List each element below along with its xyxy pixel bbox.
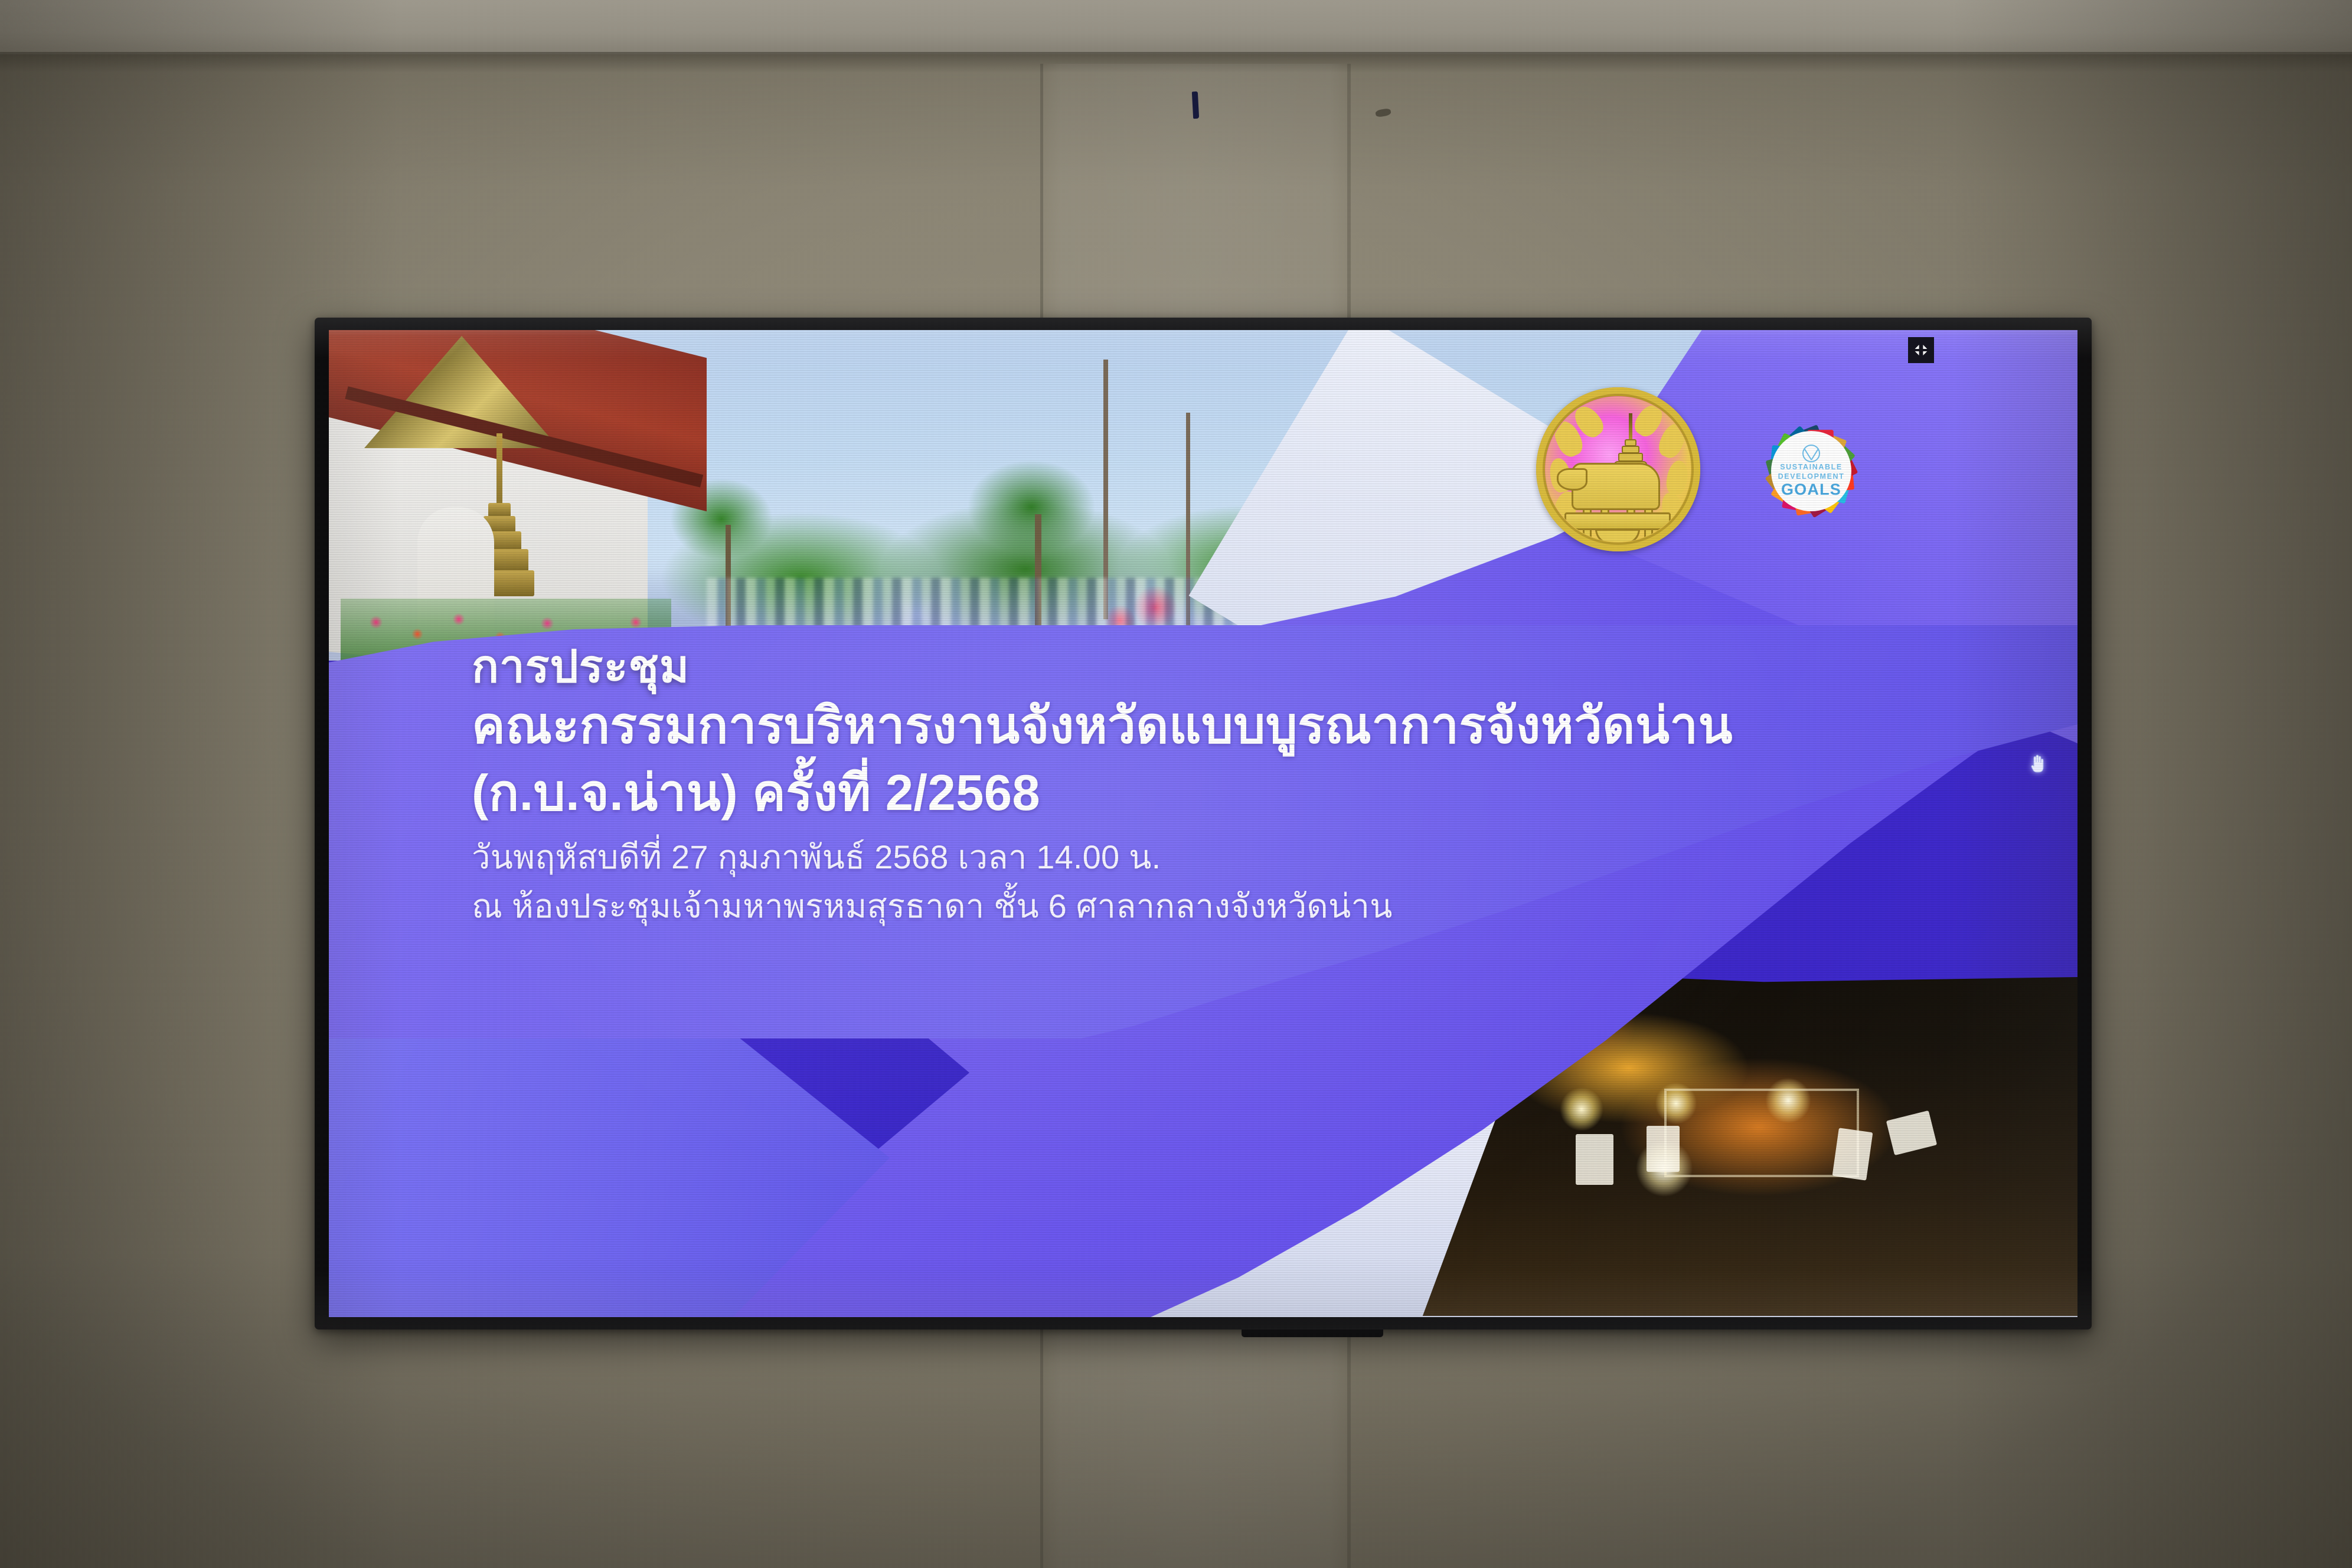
slide-kicker: การประชุม	[472, 631, 690, 702]
seal-bull-figure	[1572, 463, 1660, 510]
seal-bull-head	[1557, 468, 1587, 491]
hand-pointer-icon	[2029, 754, 2044, 773]
room-scene: SUSTAINABLE DEVELOPMENT GOALS การประชุม …	[0, 0, 2352, 1568]
seal-pedestal	[1564, 512, 1671, 530]
seal-stupa-tier-3	[1618, 453, 1643, 462]
sdg-line-2: DEVELOPMENT	[1778, 473, 1845, 481]
exit-fullscreen-button[interactable]	[1908, 337, 1934, 363]
temple-photo-element	[329, 330, 707, 661]
slide-headline: คณะกรรมการบริหารงานจังหวัดแบบบูรณาการจัง…	[472, 692, 1733, 827]
seal-lotus-ornament	[1595, 529, 1640, 542]
tv-screen[interactable]: SUSTAINABLE DEVELOPMENT GOALS การประชุม …	[329, 330, 2077, 1317]
seal-stupa-needle	[1629, 413, 1632, 442]
seal-flame-6	[1655, 420, 1690, 461]
chedi-tier-1	[488, 503, 511, 517]
chedi-spire	[496, 433, 502, 510]
seal-flame-7	[1664, 459, 1690, 496]
ceiling-strip	[0, 0, 2352, 54]
seal-inner-field	[1546, 397, 1691, 542]
night-market-card-4	[1886, 1110, 1937, 1155]
night-market-card-1	[1576, 1134, 1613, 1185]
night-market-card-2	[1647, 1126, 1680, 1172]
television[interactable]: SUSTAINABLE DEVELOPMENT GOALS การประชุม …	[315, 318, 2092, 1329]
slide-subline: วันพฤหัสบดีที่ 27 กุมภาพันธ์ 2568 เวลา 1…	[472, 833, 1393, 931]
sdg-line-1: SUSTAINABLE	[1780, 463, 1843, 471]
night-market-card-3	[1832, 1128, 1873, 1180]
exit-fullscreen-icon	[1913, 342, 1929, 358]
sdg-wheel-logo: SUSTAINABLE DEVELOPMENT GOALS	[1737, 397, 1885, 545]
night-market-signframe	[1664, 1089, 1859, 1177]
hand-cursor	[2029, 754, 2044, 776]
nan-province-seal	[1536, 387, 1700, 551]
un-emblem-icon	[1802, 445, 1820, 462]
tv-ir-sensor	[1242, 1328, 1383, 1337]
sdg-wordmark: GOALS	[1781, 482, 1841, 498]
sdg-hub: SUSTAINABLE DEVELOPMENT GOALS	[1771, 431, 1851, 511]
